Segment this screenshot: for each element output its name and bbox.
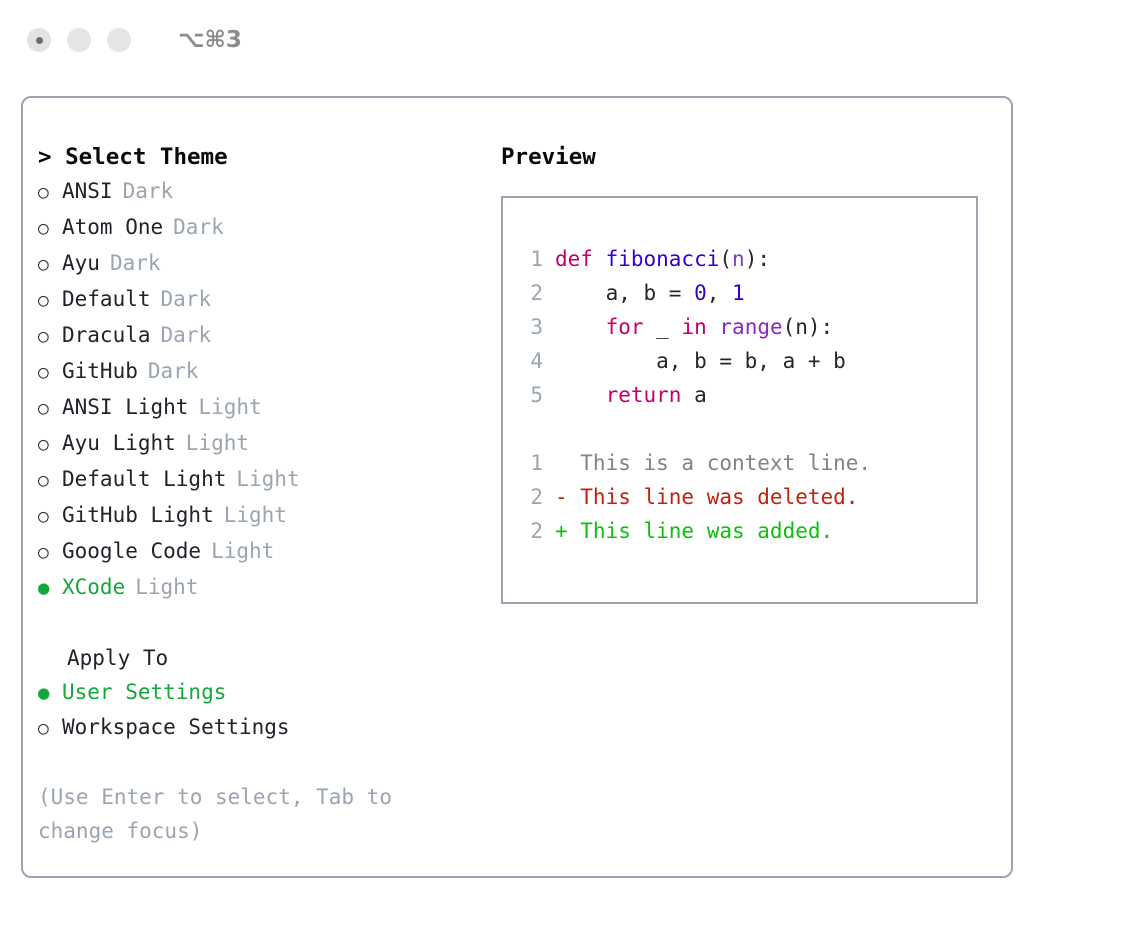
window-dot-second[interactable]	[67, 28, 91, 52]
code-token: This is a context line.	[555, 446, 871, 480]
code-token: fibonacci	[606, 242, 720, 276]
code-token	[555, 378, 606, 412]
code-token: n	[732, 242, 745, 276]
theme-option-name: Default	[62, 282, 151, 316]
line-number: 1	[515, 446, 543, 480]
theme-option-kind: Dark	[110, 246, 161, 280]
code-token	[707, 310, 720, 344]
apply-to-option-row[interactable]: ●User Settings	[38, 675, 468, 710]
theme-option-name: GitHub	[62, 354, 138, 388]
line-number: 4	[515, 344, 543, 378]
radio-unselected-icon[interactable]: ○	[38, 712, 62, 746]
radio-unselected-icon[interactable]: ○	[38, 284, 62, 318]
code-line: 2+ This line was added.	[515, 514, 976, 548]
line-number: 2	[515, 480, 543, 514]
select-theme-heading: > Select Theme	[38, 140, 468, 174]
preview-code-box: 1def fibonacci(n):2 a, b = 0, 13 for _ i…	[501, 196, 978, 604]
code-token: _	[644, 310, 682, 344]
code-token: return	[606, 378, 682, 412]
code-block: 1def fibonacci(n):2 a, b = 0, 13 for _ i…	[515, 242, 976, 412]
line-number: 2	[515, 276, 543, 310]
line-number: 2	[515, 514, 543, 548]
radio-unselected-icon[interactable]: ○	[38, 248, 62, 282]
code-token: (	[719, 242, 732, 276]
keyboard-shortcut-label: ⌥⌘3	[178, 27, 242, 53]
theme-option-name: Ayu Light	[62, 426, 176, 460]
theme-option-kind: Light	[236, 462, 299, 496]
window-dot-third[interactable]	[107, 28, 131, 52]
theme-option-name: XCode	[62, 570, 125, 604]
code-line: 1 This is a context line.	[515, 446, 976, 480]
theme-option-kind: Light	[211, 534, 274, 568]
apply-to-heading: Apply To	[38, 641, 468, 675]
line-number: 1	[515, 242, 543, 276]
theme-option-row[interactable]: ●XCodeLight	[38, 570, 468, 605]
code-line: 4 a, b = b, a + b	[515, 344, 976, 378]
code-token	[555, 310, 606, 344]
keyboard-hint-text: (Use Enter to select, Tab to change focu…	[38, 780, 438, 848]
theme-option-kind: Dark	[161, 318, 212, 352]
theme-option-row[interactable]: ○Default LightLight	[38, 462, 468, 498]
radio-unselected-icon[interactable]: ○	[38, 392, 62, 426]
radio-selected-icon[interactable]: ●	[38, 676, 62, 710]
code-line: 1def fibonacci(n):	[515, 242, 976, 276]
theme-option-name: Google Code	[62, 534, 201, 568]
code-token: a, b =	[555, 276, 694, 310]
code-token: ):	[745, 242, 770, 276]
preview-column: Preview 1def fibonacci(n):2 a, b = 0, 13…	[501, 140, 991, 604]
code-line: 2 a, b = 0, 1	[515, 276, 976, 310]
theme-option-list: ○ANSIDark○Atom OneDark○AyuDark○DefaultDa…	[38, 174, 468, 605]
apply-to-option-name: User Settings	[62, 675, 226, 709]
window-titlebar: ⌥⌘3	[0, 0, 1140, 80]
radio-unselected-icon[interactable]: ○	[38, 536, 62, 570]
theme-option-kind: Dark	[148, 354, 199, 388]
radio-unselected-icon[interactable]: ○	[38, 464, 62, 498]
theme-option-name: ANSI Light	[62, 390, 188, 424]
theme-option-row[interactable]: ○GitHub LightLight	[38, 498, 468, 534]
spacer	[38, 605, 468, 641]
radio-unselected-icon[interactable]: ○	[38, 356, 62, 390]
code-token: in	[681, 310, 706, 344]
preview-heading: Preview	[501, 140, 991, 174]
theme-option-kind: Dark	[161, 282, 212, 316]
theme-option-name: Dracula	[62, 318, 151, 352]
theme-picker-column: > Select Theme ○ANSIDark○Atom OneDark○Ay…	[38, 140, 468, 848]
code-token: a	[681, 378, 706, 412]
apply-to-option-row[interactable]: ○Workspace Settings	[38, 710, 468, 746]
code-token: for	[606, 310, 644, 344]
code-token: range	[719, 310, 782, 344]
theme-option-kind: Dark	[173, 210, 224, 244]
code-line: 3 for _ in range(n):	[515, 310, 976, 344]
app-root: ⌥⌘3 > Select Theme ○ANSIDark○Atom OneDar…	[0, 0, 1140, 934]
theme-option-kind: Light	[186, 426, 249, 460]
spacer	[515, 412, 976, 446]
theme-option-name: Default Light	[62, 462, 226, 496]
radio-selected-icon[interactable]: ●	[38, 571, 62, 605]
code-token: ,	[707, 276, 732, 310]
code-token: 1	[732, 276, 745, 310]
theme-option-row[interactable]: ○ANSIDark	[38, 174, 468, 210]
line-number: 5	[515, 378, 543, 412]
code-token: 0	[694, 276, 707, 310]
radio-unselected-icon[interactable]: ○	[38, 176, 62, 210]
theme-option-row[interactable]: ○DefaultDark	[38, 282, 468, 318]
theme-option-row[interactable]: ○ANSI LightLight	[38, 390, 468, 426]
code-token: (n):	[783, 310, 834, 344]
code-line: 5 return a	[515, 378, 976, 412]
theme-option-kind: Light	[198, 390, 261, 424]
window-dot-active[interactable]	[27, 28, 51, 52]
diff-block: 1 This is a context line.2- This line wa…	[515, 446, 976, 548]
theme-option-row[interactable]: ○Google CodeLight	[38, 534, 468, 570]
code-token: - This line was deleted.	[555, 480, 858, 514]
apply-to-option-name: Workspace Settings	[62, 710, 290, 744]
radio-unselected-icon[interactable]: ○	[38, 428, 62, 462]
code-token: a, b = b, a + b	[555, 344, 846, 378]
code-token: def	[555, 242, 606, 276]
theme-option-name: GitHub Light	[62, 498, 214, 532]
window-dot-inner	[36, 37, 43, 44]
theme-option-kind: Dark	[123, 174, 174, 208]
code-line: 2- This line was deleted.	[515, 480, 976, 514]
main-panel: > Select Theme ○ANSIDark○Atom OneDark○Ay…	[21, 96, 1013, 878]
theme-option-row[interactable]: ○Atom OneDark	[38, 210, 468, 246]
radio-unselected-icon[interactable]: ○	[38, 320, 62, 354]
theme-option-name: ANSI	[62, 174, 113, 208]
code-token: + This line was added.	[555, 514, 833, 548]
theme-option-row[interactable]: ○DraculaDark	[38, 318, 468, 354]
theme-option-row[interactable]: ○AyuDark	[38, 246, 468, 282]
line-number: 3	[515, 310, 543, 344]
radio-unselected-icon[interactable]: ○	[38, 212, 62, 246]
theme-option-name: Atom One	[62, 210, 163, 244]
apply-to-option-list: ●User Settings○Workspace Settings	[38, 675, 468, 746]
theme-option-name: Ayu	[62, 246, 100, 280]
radio-unselected-icon[interactable]: ○	[38, 500, 62, 534]
theme-option-kind: Light	[224, 498, 287, 532]
theme-option-row[interactable]: ○GitHubDark	[38, 354, 468, 390]
theme-option-kind: Light	[135, 570, 198, 604]
theme-option-row[interactable]: ○Ayu LightLight	[38, 426, 468, 462]
